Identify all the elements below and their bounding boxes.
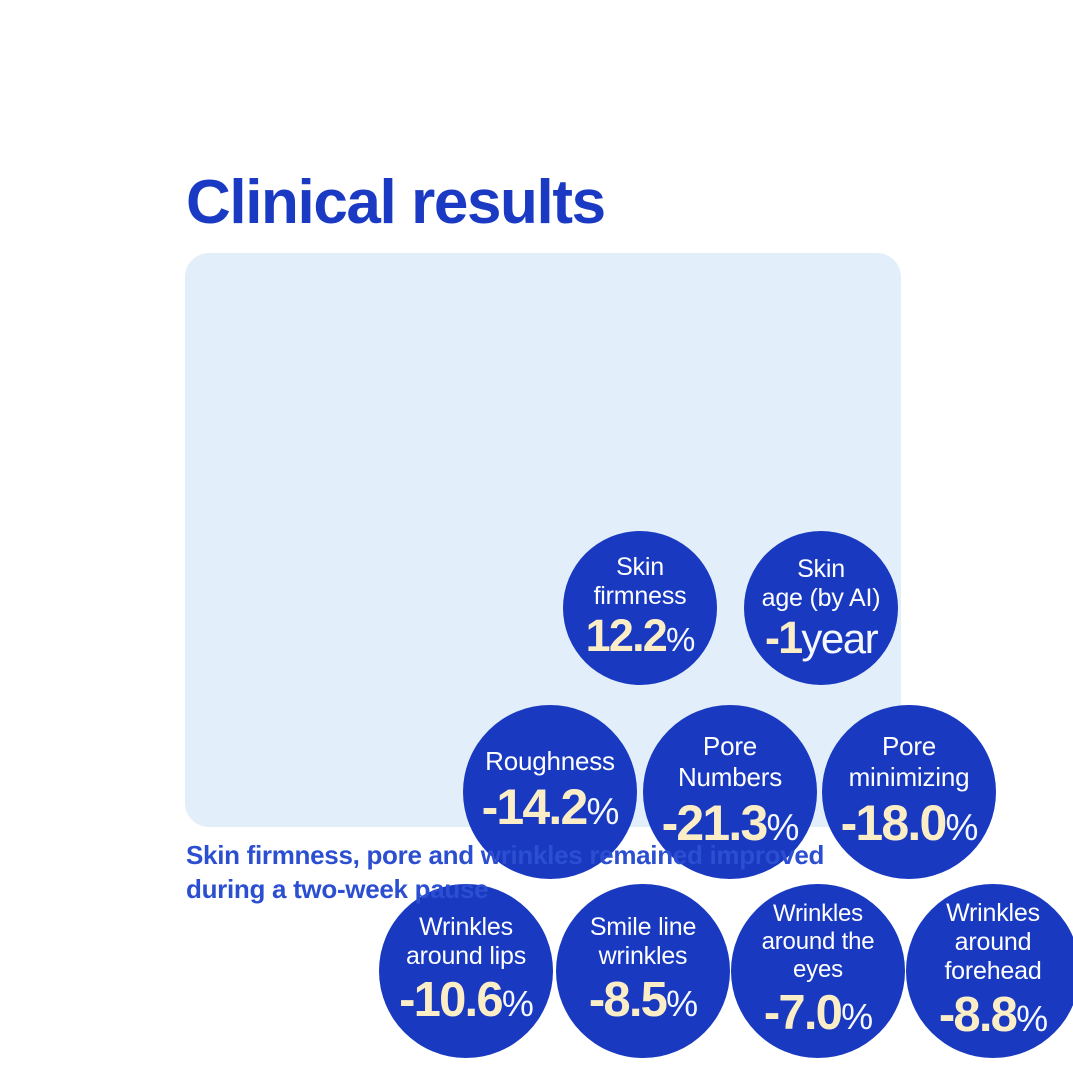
metric-label: Wrinkles around lips: [406, 913, 526, 971]
metric-label: Roughness: [485, 746, 615, 777]
metric-label: Skin firmness: [594, 553, 687, 611]
caption-line-2: during a two-week pause: [186, 872, 886, 906]
metric-label-line-2: around lips: [406, 942, 526, 970]
metric-unit: %: [666, 621, 694, 658]
metric-label: Wrinkles around forehead: [944, 899, 1041, 986]
metric-label-line-2: Numbers: [678, 762, 782, 792]
metric-label-line-1: Roughness: [485, 746, 615, 776]
metric-number: -14.2: [482, 779, 587, 835]
metric-label-line-1: Skin: [797, 555, 845, 583]
metric-bubble-smile-line-wrinkles[interactable]: Smile line wrinkles -8.5%: [556, 884, 730, 1058]
metric-value: 12.2%: [586, 612, 695, 663]
metric-label-line-1: Pore: [703, 731, 757, 761]
metric-label: Wrinkles around the eyes: [762, 900, 875, 984]
caption-line-1: Skin firmness, pore and wrinkles remaine…: [186, 838, 886, 872]
metric-label-line-1: Wrinkles: [419, 913, 513, 941]
metric-bubble-skin-firmness[interactable]: Skin firmness 12.2%: [563, 531, 717, 685]
metric-value: -14.2%: [482, 781, 619, 838]
metric-label-line-2: wrinkles: [599, 942, 688, 970]
metric-bubble-wrinkles-around-lips[interactable]: Wrinkles around lips -10.6%: [379, 884, 553, 1058]
metric-label: Smile line wrinkles: [590, 913, 696, 971]
metric-label-line-2: around: [955, 928, 1032, 956]
metric-unit: %: [946, 807, 978, 848]
page-title: Clinical results: [186, 168, 605, 238]
metric-label-line-2: around the: [762, 928, 875, 955]
metric-number: -1: [765, 612, 801, 663]
metric-label-line-2: minimizing: [849, 762, 970, 792]
metric-value: -8.8%: [939, 990, 1047, 1044]
metric-label-line-2: age (by AI): [762, 584, 881, 612]
metric-label: Pore Numbers: [678, 731, 782, 793]
metric-unit: year: [801, 615, 877, 662]
metric-value: -10.6%: [399, 975, 533, 1029]
metric-bubble-skin-age[interactable]: Skin age (by AI) -1year: [744, 531, 898, 685]
metric-unit: %: [502, 983, 533, 1024]
infographic-canvas: Clinical results Skin firmness 12.2% Ski…: [0, 0, 1073, 1075]
metric-unit: %: [1016, 998, 1047, 1039]
metric-bubble-wrinkles-around-forehead[interactable]: Wrinkles around forehead -8.8%: [906, 884, 1073, 1058]
results-panel: Skin firmness 12.2% Skin age (by AI) -1y…: [185, 253, 901, 827]
metric-label-line-1: Skin: [616, 553, 664, 581]
metric-label-line-1: Smile line: [590, 913, 696, 941]
metric-unit: %: [841, 996, 872, 1037]
metric-label: Pore minimizing: [849, 731, 970, 793]
metric-number: -8.8: [939, 988, 1016, 1042]
metric-value: -8.5%: [589, 975, 697, 1029]
metric-number: -8.5: [589, 973, 666, 1027]
metric-number: -10.6: [399, 973, 502, 1027]
metric-value: -7.0%: [764, 988, 872, 1042]
metric-label: Skin age (by AI): [762, 555, 881, 613]
metric-number: 12.2: [586, 610, 666, 661]
metric-label-line-3: eyes: [793, 956, 843, 983]
metric-value: -1year: [765, 614, 877, 662]
metric-number: -7.0: [764, 986, 841, 1040]
caption: Skin firmness, pore and wrinkles remaine…: [186, 838, 886, 906]
metric-label-line-1: Pore: [882, 731, 936, 761]
metric-label-line-3: forehead: [944, 957, 1041, 985]
metric-label-line-2: firmness: [594, 582, 687, 610]
metric-label-line-1: Wrinkles: [946, 899, 1040, 927]
metric-unit: %: [666, 983, 697, 1024]
metric-unit: %: [587, 791, 619, 832]
metric-bubble-wrinkles-around-eyes[interactable]: Wrinkles around the eyes -7.0%: [731, 884, 905, 1058]
